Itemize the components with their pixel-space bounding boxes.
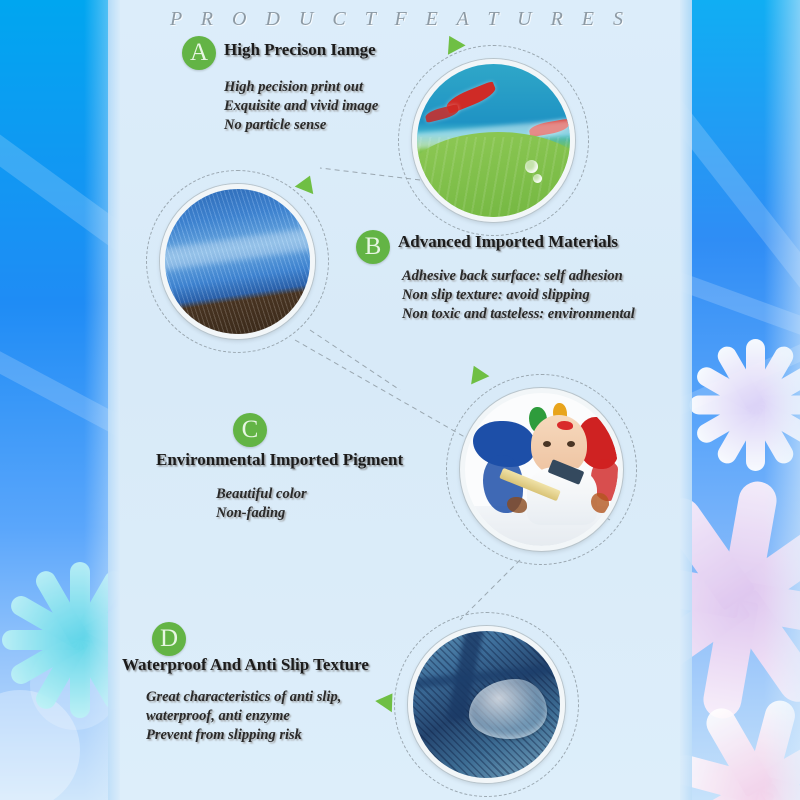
feature-body-c: Beautiful color Non-fading <box>216 485 307 523</box>
decor-flower-burst <box>680 690 800 800</box>
decor-ray <box>0 120 120 317</box>
baby-eye <box>567 441 575 447</box>
feature-body-a: High pecision print out Exquisite and vi… <box>224 78 378 135</box>
left-decor-band <box>0 0 120 800</box>
right-band-edge <box>678 0 692 800</box>
water-droplet <box>533 174 542 183</box>
photo-frame <box>160 184 315 339</box>
badge-b: B <box>356 230 390 264</box>
photo-water-droplet <box>408 626 565 783</box>
product-features-infographic: P R O D U C T F E A T U R E S A High Pre… <box>0 0 800 800</box>
decor-flower-burst <box>0 550 120 730</box>
arrow-marker-c <box>465 362 490 385</box>
photo-baby-painting <box>460 388 623 551</box>
badge-a: A <box>182 36 216 70</box>
photo-blue-fabric <box>160 184 315 339</box>
feature-title-c: Environmental Imported Pigment <box>156 450 403 470</box>
paint-splash <box>591 493 609 513</box>
feature-body-b: Adhesive back surface: self adhesion Non… <box>402 267 635 324</box>
main-panel: P R O D U C T F E A T U R E S A High Pre… <box>120 0 680 800</box>
baby-eye <box>543 441 551 447</box>
feature-title-b: Advanced Imported Materials <box>398 232 618 252</box>
decor-ray <box>0 330 120 479</box>
leaf-veins <box>417 137 570 217</box>
decor-flower-burst <box>680 330 800 480</box>
feature-title-d: Waterproof And Anti Slip Texture <box>122 655 369 675</box>
badge-d: D <box>152 622 186 656</box>
page-title: P R O D U C T F E A T U R E S <box>120 8 680 31</box>
photo-frame <box>408 626 565 783</box>
paint-on-forehead <box>557 421 573 430</box>
paint-splash <box>507 497 527 513</box>
photo-frame <box>460 388 623 551</box>
feature-body-d: Great characteristics of anti slip, wate… <box>146 688 341 745</box>
right-decor-band <box>680 0 800 800</box>
photo-koi-pond <box>412 59 575 222</box>
badge-c: C <box>233 413 267 447</box>
feature-title-a: High Precison Iamge <box>224 40 376 60</box>
water-droplet <box>525 160 538 173</box>
photo-frame <box>412 59 575 222</box>
koi-fish <box>424 104 460 123</box>
